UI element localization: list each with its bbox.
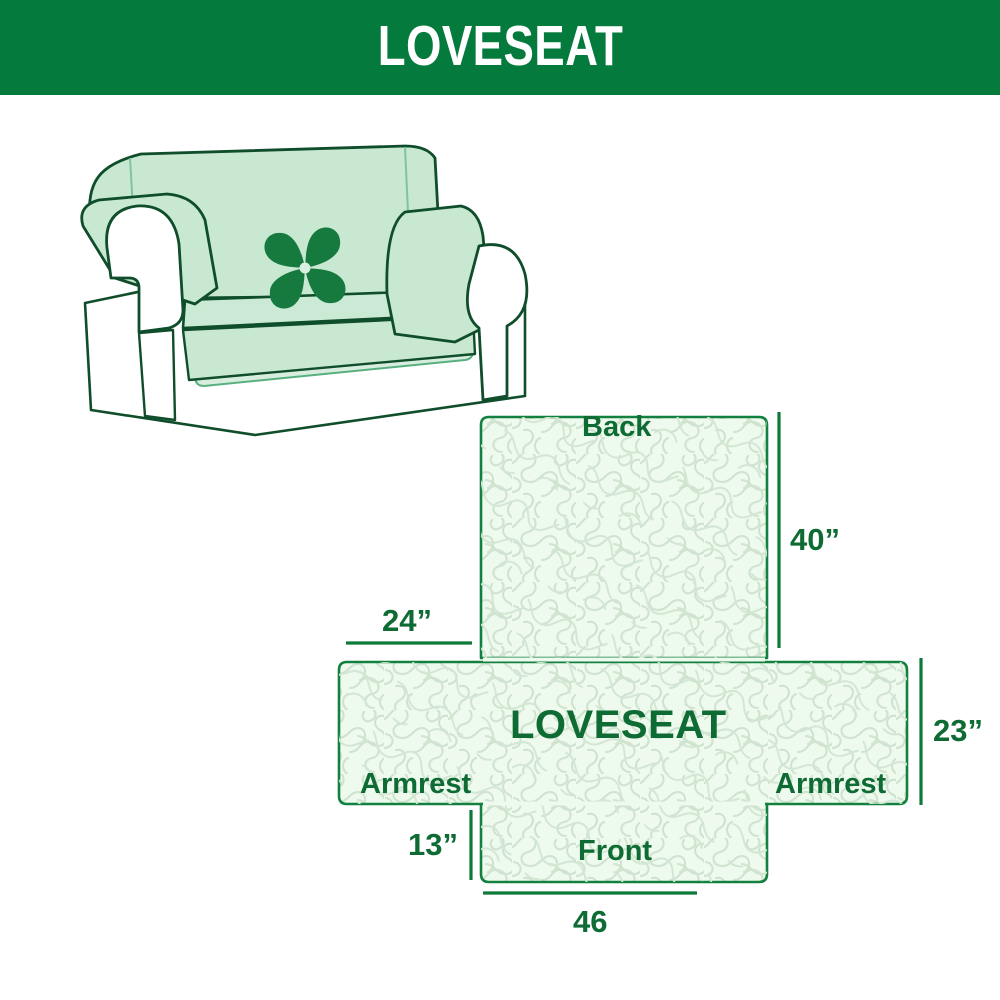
diagram-label-front: Front <box>578 837 652 866</box>
sofa-arm-left-inner <box>139 330 175 420</box>
product-dimension-infographic: LOVESEAT <box>0 0 1000 1000</box>
diagram-label-back: Back <box>582 413 651 442</box>
page-title: LOVESEAT <box>377 18 623 75</box>
slipcover-dimension-diagram: Back LOVESEAT Armrest Armrest Front 40” … <box>320 390 1000 960</box>
diagram-label-armrest-left: Armrest <box>360 770 471 799</box>
diagram-cross-shape <box>339 417 907 882</box>
dimension-label-armrest-height: 23” <box>933 715 983 746</box>
header-banner: LOVESEAT <box>0 0 1000 95</box>
diagram-label-center: LOVESEAT <box>510 705 727 745</box>
diagram-label-armrest-right: Armrest <box>775 770 886 799</box>
dimension-label-front-width: 46 <box>573 906 607 937</box>
dimension-label-back-offset: 24” <box>382 605 432 636</box>
dimension-label-front-drop: 13” <box>408 829 458 860</box>
dimension-label-back-height: 40” <box>790 524 840 555</box>
diagram-back-pattern-overlay <box>481 417 767 658</box>
